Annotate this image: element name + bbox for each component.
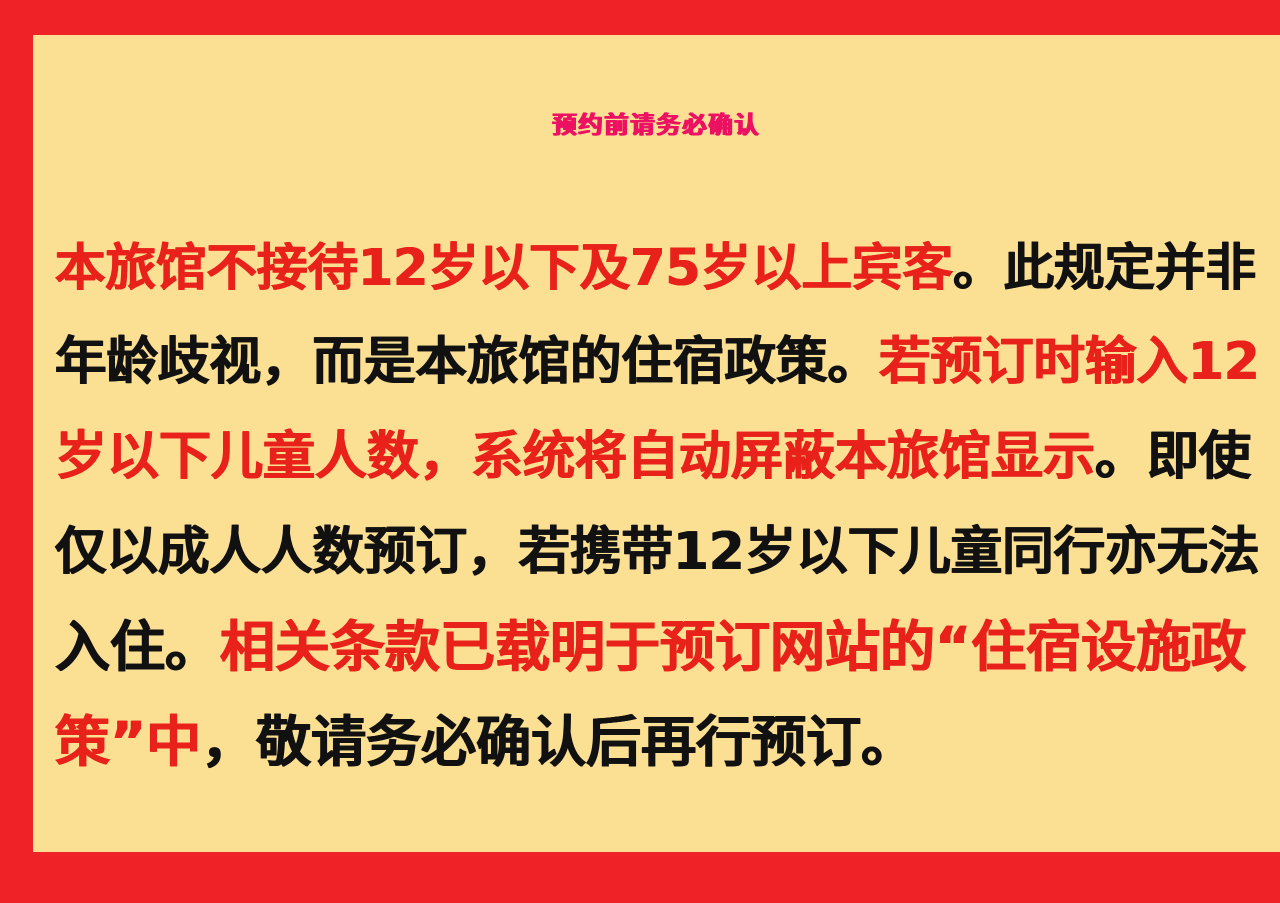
page-title: 预约前请务必确认 <box>33 85 1280 165</box>
notice-line-5: 入住。相关条款已载明于预订网站的“住宿设施政 <box>55 600 1260 695</box>
poster-panel: 预约前请务必确认 本旅馆不接待12岁以下及75岁以上宾客。此规定并非 年龄歧视，… <box>33 35 1280 852</box>
notice-line-4-segment-1: 仅以成人人数预订，若携带12岁以下儿童同行亦无法 <box>55 522 1260 582</box>
notice-line-6: 策”中，敬请务必确认后再行预订。 <box>55 695 1260 790</box>
notice-line-3-segment-2: 。即使 <box>1095 427 1251 487</box>
notice-line-4: 仅以成人人数预订，若携带12岁以下儿童同行亦无法 <box>55 505 1260 600</box>
notice-line-6-segment-1: 策”中 <box>55 710 201 774</box>
notice-line-3: 岁以下儿童人数，系统将自动屏蔽本旅馆显示。即使 <box>55 410 1260 505</box>
notice-line-5-segment-2: 相关条款已载明于预订网站的“住宿设施政 <box>220 615 1246 679</box>
notice-line-5-segment-1: 入住。 <box>55 615 220 679</box>
notice-line-1-segment-2: 。此规定并非 <box>953 238 1256 297</box>
notice-line-6-segment-2: ，敬请务必确认后再行预订。 <box>201 710 916 774</box>
notice-line-1: 本旅馆不接待12岁以下及75岁以上宾客。此规定并非 <box>55 220 1260 315</box>
poster-red-border: 预约前请务必确认 本旅馆不接待12岁以下及75岁以上宾客。此规定并非 年龄歧视，… <box>0 0 1280 903</box>
notice-line-2: 年龄歧视，而是本旅馆的住宿政策。若预订时输入12 <box>55 315 1260 410</box>
notice-line-2-segment-1: 年龄歧视，而是本旅馆的住宿政策。 <box>55 332 879 392</box>
notice-body: 本旅馆不接待12岁以下及75岁以上宾客。此规定并非 年龄歧视，而是本旅馆的住宿政… <box>55 220 1260 790</box>
notice-line-3-segment-1: 岁以下儿童人数，系统将自动屏蔽本旅馆显示 <box>55 427 1095 487</box>
notice-line-1-segment-1: 本旅馆不接待12岁以下及75岁以上宾客 <box>55 238 953 297</box>
notice-line-2-segment-2: 若预订时输入12 <box>879 332 1260 392</box>
